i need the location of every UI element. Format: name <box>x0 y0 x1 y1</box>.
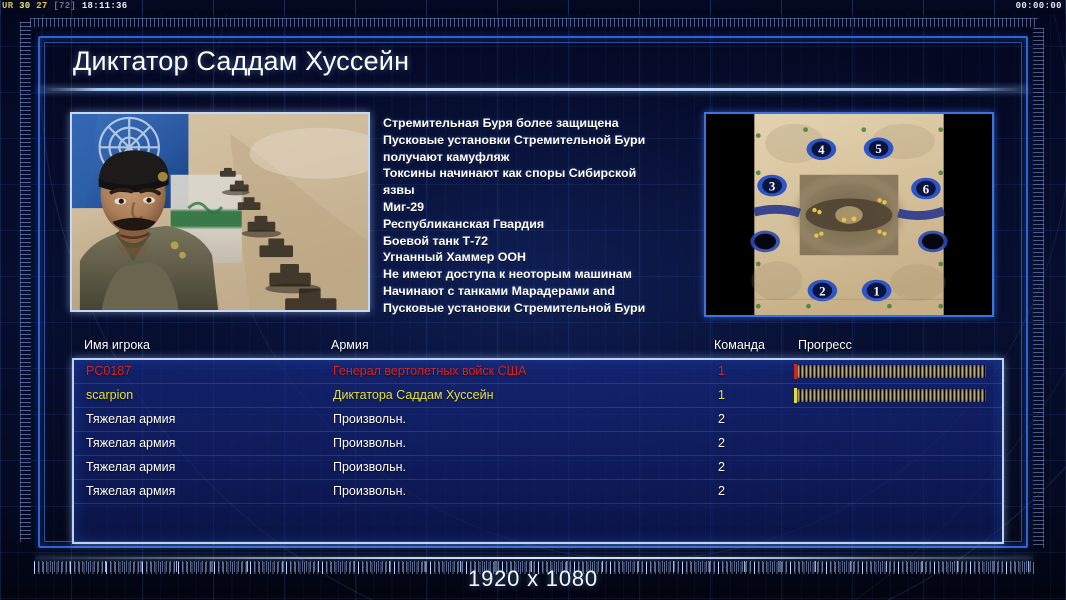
player-table-panel: PC0187Генерал вертолетных войск США1scar… <box>72 358 1004 544</box>
media-row: Стремительная Буря более защищена Пусков… <box>70 112 994 322</box>
minimap-start-1: 1 <box>862 280 892 302</box>
description-line: Начинают с танками Марадерами and <box>383 283 701 300</box>
player-name: Тяжелая армия <box>86 436 175 450</box>
progress-bar-marker <box>794 388 797 403</box>
resolution-label: 1920 x 1080 <box>0 566 1066 592</box>
description-line: Пусковые установки Стремительной Бури <box>383 132 701 149</box>
player-army: Произвольн. <box>333 484 406 498</box>
column-header-army: Армия <box>331 338 369 352</box>
faction-description: Стремительная Буря более защищена Пусков… <box>383 111 701 317</box>
player-name: Тяжелая армия <box>86 412 175 426</box>
fps-label: UR <box>2 1 13 11</box>
title-bar: Диктатор Саддам Хуссейн <box>40 38 1026 90</box>
frame-line-left <box>20 22 21 542</box>
player-team: 1 <box>718 388 725 402</box>
player-name: Тяжелая армия <box>86 460 175 474</box>
minimap-image: 4 5 3 6 <box>706 114 992 315</box>
progress-bar-fill <box>796 365 986 378</box>
column-header-name: Имя игрока <box>84 338 150 352</box>
footer-divider <box>36 557 1032 559</box>
frame-ruler-left <box>20 22 31 542</box>
description-line: Миг-29 <box>383 199 701 216</box>
player-team: 2 <box>718 484 725 498</box>
player-team: 2 <box>718 460 725 474</box>
table-row[interactable]: PC0187Генерал вертолетных войск США1 <box>74 360 1002 384</box>
progress-bar-marker <box>794 364 797 379</box>
player-rows: PC0187Генерал вертолетных войск США1scar… <box>74 360 1002 504</box>
player-team: 2 <box>718 412 725 426</box>
debug-hud-bar: UR 30 27 [72] 18:11:36 00:00:00 <box>0 0 1066 14</box>
table-row[interactable]: Тяжелая армияПроизвольн.2 <box>74 432 1002 456</box>
svg-text:3: 3 <box>769 180 775 194</box>
table-row[interactable]: Тяжелая армияПроизвольн.2 <box>74 408 1002 432</box>
svg-text:1: 1 <box>873 284 879 298</box>
title-divider <box>38 88 1028 91</box>
minimap-start-2: 2 <box>808 280 838 302</box>
match-clock: 00:00:00 <box>1016 1 1062 11</box>
session-timer: 18:11:36 <box>82 1 128 11</box>
table-row[interactable]: scarpionДиктатора Саддам Хуссейн1 <box>74 384 1002 408</box>
minimap-start-3: 3 <box>757 175 787 197</box>
svg-text:6: 6 <box>923 182 930 196</box>
minimap-start-6: 6 <box>911 178 941 200</box>
description-line: Стремительная Буря более защищена <box>383 115 701 132</box>
fps-bracket: [72] <box>53 1 76 11</box>
player-army: Произвольн. <box>333 436 406 450</box>
description-line: Угнанный Хаммер ООН <box>383 249 701 266</box>
table-row[interactable]: Тяжелая армияПроизвольн.2 <box>74 456 1002 480</box>
column-header-team: Команда <box>714 338 765 352</box>
svg-text:5: 5 <box>875 142 881 156</box>
player-name: Тяжелая армия <box>86 484 175 498</box>
progress-bar <box>796 365 986 378</box>
svg-text:2: 2 <box>819 284 825 298</box>
frame-line-top <box>30 18 1038 19</box>
progress-bar <box>796 389 986 402</box>
fps-counter: UR 30 27 [72] 18:11:36 <box>2 1 127 11</box>
footer-strip: 1920 x 1080 <box>0 554 1066 600</box>
player-name: scarpion <box>86 388 133 402</box>
player-army: Произвольн. <box>333 460 406 474</box>
description-line: язвы <box>383 182 701 199</box>
minimap-start-4: 4 <box>807 139 837 161</box>
frame-ruler-top <box>30 18 1038 27</box>
player-table-header: Имя игрока Армия Команда Прогресс <box>70 338 1000 358</box>
player-team: 1 <box>718 364 725 378</box>
progress-bar-fill <box>796 389 986 402</box>
description-line: Республиканская Гвардия <box>383 216 701 233</box>
fps-value-alt: 27 <box>36 1 47 11</box>
player-team: 2 <box>718 436 725 450</box>
saddam-portrait-image <box>72 114 368 310</box>
description-line: получают камуфляж <box>383 149 701 166</box>
player-army: Диктатора Саддам Хуссейн <box>333 388 493 402</box>
hud-tick-marks <box>0 0 1066 14</box>
description-line: Пусковые установки Стремительной Бури <box>383 300 701 317</box>
svg-text:4: 4 <box>818 143 825 157</box>
description-line: Не имеют доступа к неоторым машинам <box>383 266 701 283</box>
faction-portrait <box>70 112 370 312</box>
table-row[interactable]: Тяжелая армияПроизвольн.2 <box>74 480 1002 504</box>
description-line: Токсины начинают как споры Сибирской <box>383 165 701 182</box>
player-name: PC0187 <box>86 364 131 378</box>
description-line: Боевой танк Т-72 <box>383 233 701 250</box>
column-header-progress: Прогресс <box>798 338 852 352</box>
frame-line-right <box>1043 28 1044 548</box>
loading-screen: UR 30 27 [72] 18:11:36 00:00:00 Диктатор… <box>0 0 1066 600</box>
player-army: Произвольн. <box>333 412 406 426</box>
minimap-preview[interactable]: 4 5 3 6 <box>704 112 994 317</box>
page-title: Диктатор Саддам Хуссейн <box>73 46 409 77</box>
player-army: Генерал вертолетных войск США <box>333 364 526 378</box>
fps-value: 30 <box>19 1 30 11</box>
minimap-start-5: 5 <box>864 138 894 160</box>
